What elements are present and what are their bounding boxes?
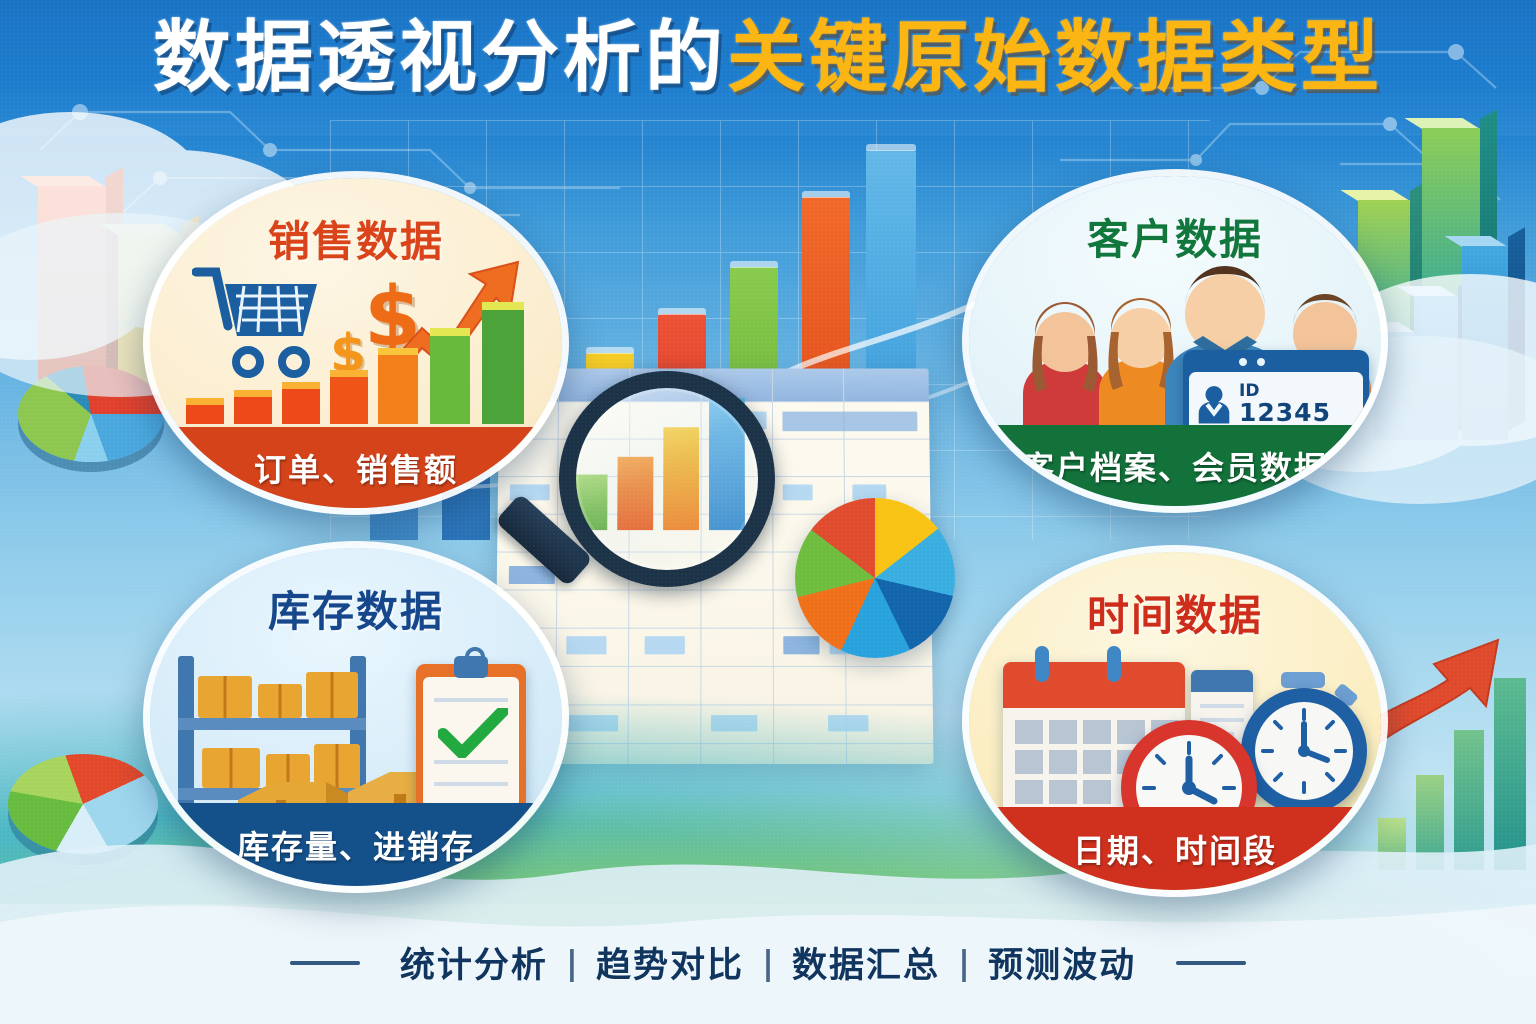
sales-card-bar-chart bbox=[186, 302, 536, 424]
clipboard-check-icon bbox=[416, 664, 526, 814]
card-customer-title: 客户数据 bbox=[969, 206, 1381, 267]
card-sales-banner-text: 订单、销售额 bbox=[254, 445, 458, 491]
green-check-icon bbox=[438, 708, 508, 758]
person-avatar-icon bbox=[1197, 384, 1231, 424]
id-card-value: 12345 bbox=[1239, 400, 1331, 425]
footer-rule-right bbox=[1176, 961, 1246, 965]
card-inventory-title: 库存数据 bbox=[150, 578, 562, 639]
footer-items: 统计分析|趋势对比|数据汇总|预测波动 bbox=[382, 937, 1154, 988]
footer-item[interactable]: 数据汇总 bbox=[774, 937, 958, 988]
footer-rule-left bbox=[290, 961, 360, 965]
card-customer-banner-text: 客户档案、会员数据 bbox=[1022, 443, 1328, 489]
page-title: 数据透视分析的关键原始数据类型 bbox=[0, 18, 1536, 100]
title-gold-part: 关键原始数据类型 bbox=[727, 13, 1383, 103]
footer-separator: | bbox=[958, 943, 970, 982]
card-inventory-banner: 库存量、进销存 bbox=[150, 803, 562, 886]
footer-tag-strip: 统计分析|趋势对比|数据汇总|预测波动 bbox=[0, 937, 1536, 988]
infographic-canvas: 数据透视分析的关键原始数据类型 $ $ bbox=[0, 0, 1536, 1024]
footer-separator: | bbox=[762, 943, 774, 982]
footer-separator: | bbox=[566, 943, 578, 982]
card-time-banner: 日期、时间段 bbox=[969, 807, 1381, 890]
card-inventory-data[interactable]: 库存数据 库存量、进销存 bbox=[143, 541, 569, 893]
footer-item[interactable]: 趋势对比 bbox=[578, 937, 762, 988]
card-sales-data[interactable]: $ $ 销售数据 订单、销售额 bbox=[143, 171, 569, 515]
card-sales-banner: 订单、销售额 bbox=[150, 427, 562, 508]
card-time-banner-text: 日期、时间段 bbox=[1073, 826, 1277, 872]
footer-item[interactable]: 预测波动 bbox=[970, 937, 1154, 988]
card-sales-title: 销售数据 bbox=[150, 208, 562, 269]
card-inventory-banner-text: 库存量、进销存 bbox=[237, 822, 475, 868]
card-time-data[interactable]: 时间数据 日期、时间段 bbox=[962, 545, 1388, 897]
card-customer-data[interactable]: ID 12345 客户数据 客户档案、会员数据 bbox=[962, 169, 1388, 513]
footer-item[interactable]: 统计分析 bbox=[382, 937, 566, 988]
title-white-part: 数据透视分析的 bbox=[153, 13, 727, 103]
card-time-title: 时间数据 bbox=[969, 582, 1381, 643]
card-customer-banner: 客户档案、会员数据 bbox=[969, 425, 1381, 506]
